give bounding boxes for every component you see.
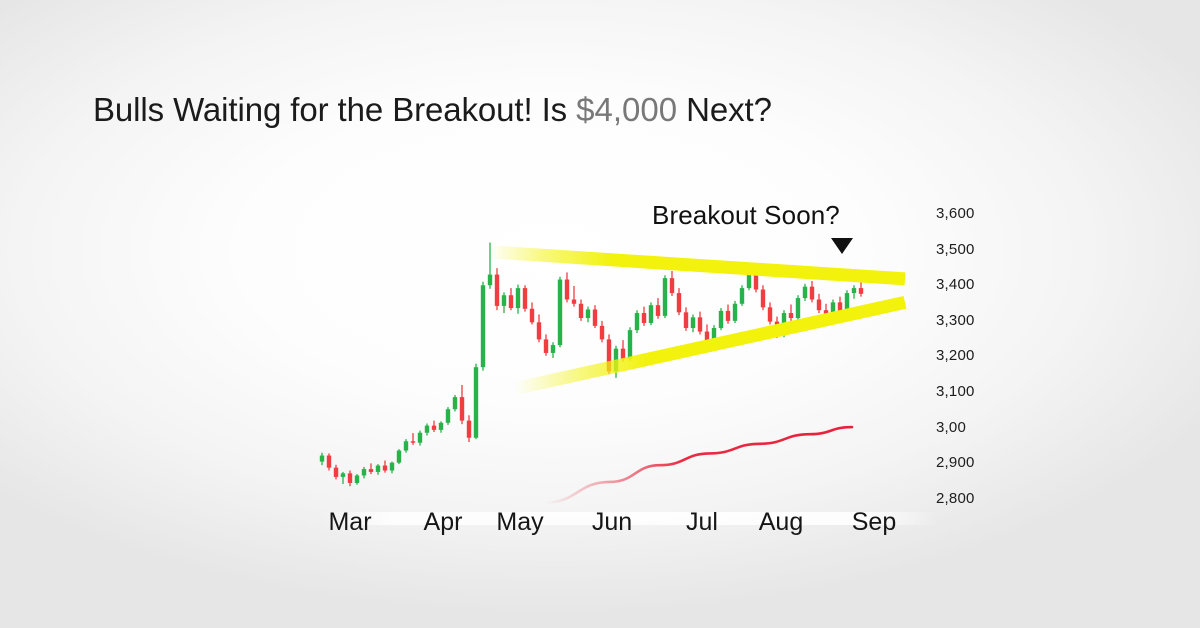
support-trendline [515,302,905,388]
candle-body [565,280,569,300]
candle-body [803,287,807,298]
x-axis-tick-label: Jun [572,508,652,537]
candle-body [383,466,387,471]
candle-body [341,473,345,477]
candle-body [810,287,814,300]
moving-average-line [545,427,852,503]
candle-body [481,285,485,367]
y-axis-tick-label: 2,800 [936,490,975,507]
x-axis-tick-label: Mar [310,508,390,537]
candle-body [656,305,660,316]
candle-body [530,309,534,323]
candle-body [439,423,443,430]
candle-body [698,317,702,331]
y-axis-tick-label: 3,00 [936,419,966,436]
candle-body [677,293,681,312]
candle-body [544,339,548,353]
x-axis-tick-label: Aug [741,508,821,537]
candle-body [488,275,492,286]
breakout-annotation-label: Breakout Soon? [652,200,840,230]
candle-body [670,278,674,293]
candle-body [355,475,359,482]
candlestick-series [320,243,863,487]
x-axis-tick-label: May [480,508,560,537]
candle-body [432,426,436,430]
candle-body [334,468,338,477]
candle-body [425,426,429,433]
candle-body [593,309,597,325]
candle-body [467,421,471,438]
candle-body [635,313,639,330]
candle-body [733,304,737,321]
candle-body [327,456,331,468]
candle-body [404,441,408,450]
candle-body [579,304,583,318]
candle-body [460,397,464,421]
candle-body [397,451,401,463]
candle-body [859,288,863,294]
candle-body [740,288,744,304]
candle-body [817,300,821,311]
candle-body [649,305,653,323]
candle-body [719,311,723,328]
candle-body [789,313,793,318]
breakout-annotation: Breakout Soon? [652,200,840,231]
y-axis-tick-label: 2,900 [936,454,975,471]
candle-body [768,307,772,321]
candle-body [509,295,513,308]
candle-body [628,330,632,359]
x-axis-tick-label: Jul [662,508,742,537]
candle-body [551,345,555,353]
y-axis-tick-label: 3,100 [936,383,975,400]
candle-body [390,463,394,471]
candle-body [691,317,695,328]
y-axis-tick-label: 3,600 [936,205,975,222]
y-axis-tick-label: 3,400 [936,276,975,293]
candle-body [621,349,625,359]
x-axis-tick-label: Sep [834,508,914,537]
candle-body [362,469,366,475]
candle-body [663,278,667,316]
candle-body [684,312,688,328]
candle-body [600,326,604,340]
candle-body [726,311,730,321]
y-axis-tick-label: 3,200 [936,347,975,364]
candle-body [572,300,576,304]
candle-body [411,441,415,442]
candle-body [852,288,856,293]
y-axis-tick-label: 3,300 [936,312,975,329]
candle-body [523,288,527,309]
candle-body [558,280,562,346]
candle-body [320,456,324,462]
x-axis-tick-label: Apr [403,508,483,537]
candle-body [586,309,590,318]
y-axis-tick-label: 3,500 [936,241,975,258]
candle-body [453,397,457,409]
candle-body [348,473,352,483]
candle-body [516,288,520,308]
candle-body [642,313,646,323]
candle-body [446,409,450,423]
candle-body [537,322,541,339]
resistance-trendline [488,252,905,279]
candle-body [502,295,506,306]
down-triangle-icon [831,238,853,254]
candle-body [474,367,478,438]
candle-body [369,469,373,472]
chart-infographic: Bulls Waiting for the Breakout! Is $4,00… [0,0,1200,628]
candle-body [376,466,380,472]
candle-body [796,298,800,318]
candle-body [838,302,842,311]
candle-body [495,275,499,306]
candle-body [418,433,422,443]
candle-body [761,290,765,308]
